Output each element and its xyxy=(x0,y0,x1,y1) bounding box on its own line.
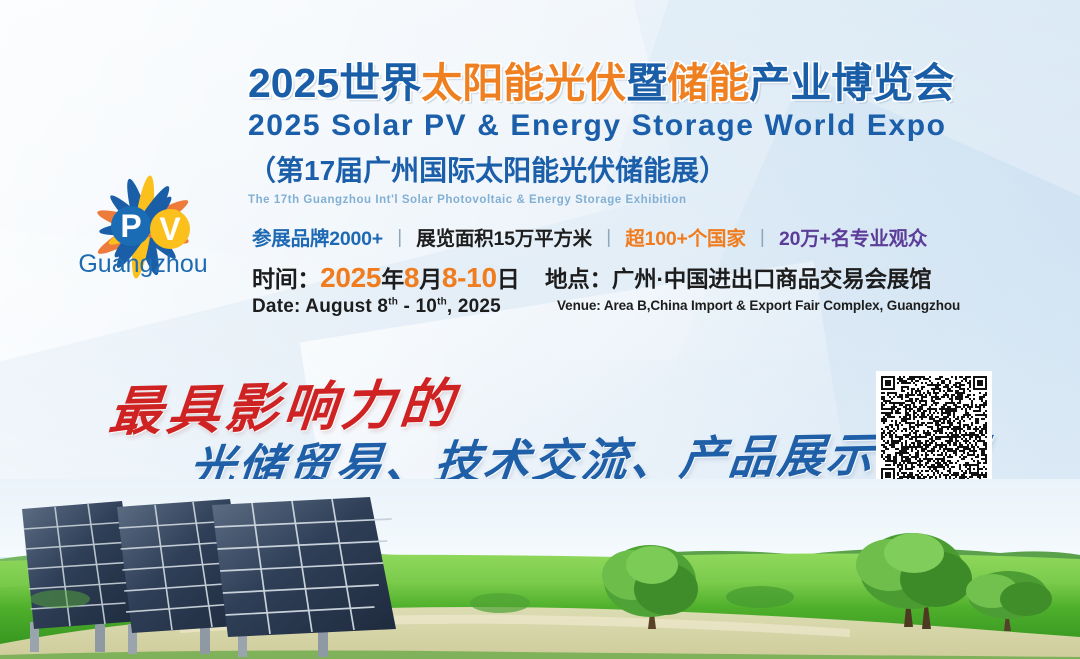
date-cn-month-unit: 月 xyxy=(419,266,442,292)
date-cn-days: 8-10 xyxy=(442,262,497,293)
logo-letter-v: V xyxy=(159,211,181,247)
title-seg-2: 暨 xyxy=(626,60,667,106)
date-cn-day-unit: 日 xyxy=(497,266,520,292)
logo-svg: P V Guangzhou xyxy=(48,95,238,280)
title-cn-sub: （第17届广州国际太阳能光伏储能展） xyxy=(248,149,1038,189)
date-en-prefix: Date: August xyxy=(252,296,377,317)
date-cn-year-unit: 年 xyxy=(381,266,404,292)
stat-countries: 超100+个国家 xyxy=(625,228,745,250)
logo-city-label: Guangzhou xyxy=(78,250,207,278)
title-seg-1: 太阳能光伏 xyxy=(421,60,626,106)
title-seg-3: 储能 xyxy=(667,60,749,106)
logo-letter-p: P xyxy=(120,208,141,244)
date-en-mid: - 10 xyxy=(398,296,437,317)
date-cn: 时间：2025年8月8-10日 xyxy=(252,260,519,294)
date-cn-year: 2025 xyxy=(320,262,381,293)
date-en-suffix: , 2025 xyxy=(447,296,501,317)
date-en-sup1: th xyxy=(388,297,398,308)
qr-code[interactable] xyxy=(876,371,992,487)
stat-area: 展览面积15万平方米 xyxy=(416,228,592,250)
stat-visitors: 20万+名专业观众 xyxy=(779,228,927,250)
landscape-scene xyxy=(0,479,1080,659)
title-seg-4: 产业博览会 xyxy=(749,60,954,106)
stat-separator-3: 丨 xyxy=(746,228,779,250)
venue-en: Venue: Area B,China Import & Export Fair… xyxy=(557,298,960,313)
headline-block: 2025世界太阳能光伏暨储能产业博览会 2025 Solar PV & Ener… xyxy=(248,62,1038,206)
stat-brands: 参展品牌2000+ xyxy=(252,228,383,250)
date-cn-month: 8 xyxy=(404,262,419,293)
date-block: 时间：2025年8月8-10日 Date: August 8th - 10th,… xyxy=(252,260,519,318)
expo-poster: P V Guangzhou 2025世界太阳能光伏暨储能产业博览会 2025 S… xyxy=(0,0,1080,659)
qr-canvas xyxy=(881,376,987,482)
title-en-sub: The 17th Guangzhou Int'l Solar Photovolt… xyxy=(248,194,1038,206)
date-cn-label: 时间： xyxy=(252,266,320,292)
stat-separator-2: 丨 xyxy=(592,228,625,250)
date-en: Date: August 8th - 10th, 2025 xyxy=(252,296,519,318)
date-en-d1: 8 xyxy=(377,296,388,317)
venue-block: 地点：广州·中国进出口商品交易会展馆 Venue: Area B,China I… xyxy=(545,262,960,313)
stats-strip: 参展品牌2000+丨展览面积15万平方米丨超100+个国家丨20万+名专业观众 xyxy=(252,222,927,251)
pv-guangzhou-logo: P V Guangzhou xyxy=(48,95,238,280)
title-seg-0: 2025世界 xyxy=(248,60,421,106)
date-en-sup2: th xyxy=(437,297,447,308)
title-cn: 2025世界太阳能光伏暨储能产业博览会 xyxy=(248,62,1038,106)
title-en: 2025 Solar PV & Energy Storage World Exp… xyxy=(248,109,1038,143)
venue-cn: 地点：广州·中国进出口商品交易会展馆 xyxy=(545,262,960,294)
stat-separator-1: 丨 xyxy=(383,228,416,250)
